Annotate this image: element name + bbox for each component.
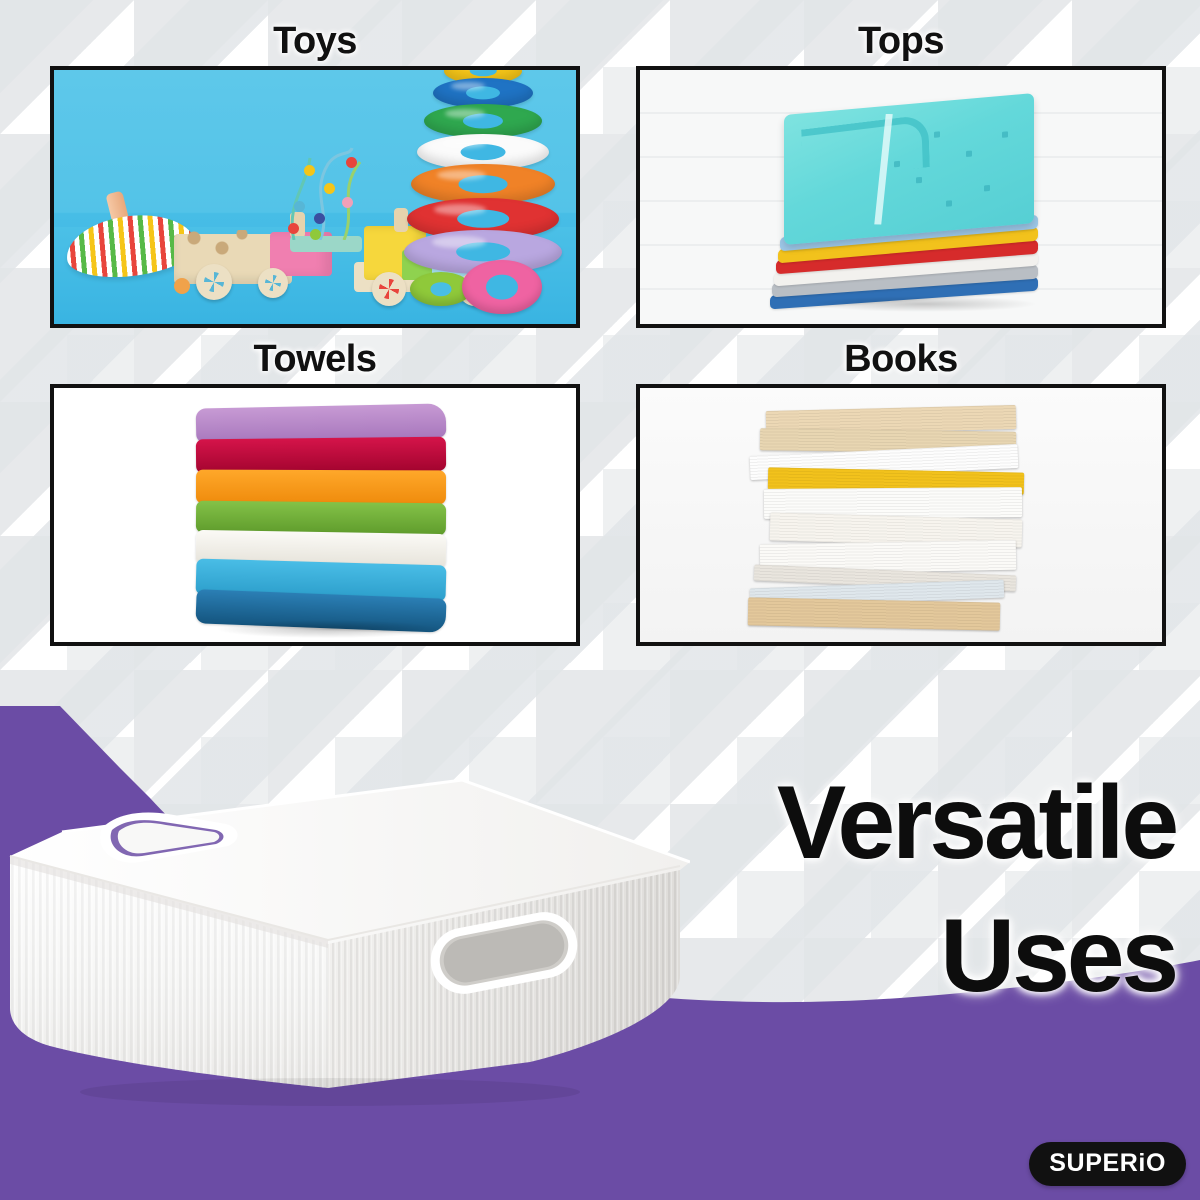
panel-title-toys: Toys (50, 22, 580, 66)
toys-backdrop (54, 70, 576, 324)
book-tan-bottom (748, 597, 1001, 630)
panel-image-books (636, 384, 1166, 646)
towels-backdrop (54, 388, 576, 642)
train-wheel (372, 272, 406, 306)
category-panel-toys: Toys (50, 22, 580, 328)
stacking-rings-tower (404, 66, 562, 280)
train-cutout-dots (182, 230, 252, 258)
maze-bead (346, 157, 357, 168)
shirt-collar (801, 114, 930, 182)
headline-line-1: Versatile (620, 772, 1176, 875)
train-wheel (196, 264, 232, 300)
folded-shirt-stack (768, 100, 1054, 310)
train-nose-bead (174, 278, 190, 294)
book-stack (750, 408, 1050, 634)
stack-ring-green (424, 104, 542, 138)
panel-image-tops (636, 66, 1166, 328)
train-wheel (258, 268, 288, 298)
maze-bead (304, 165, 315, 176)
folded-shirt-aqua (784, 93, 1034, 245)
towel-stack-shadow (218, 620, 438, 638)
towel-stack (196, 406, 446, 630)
brand-logo-superio: SUPERiO (1029, 1142, 1186, 1186)
panel-image-toys (50, 66, 580, 328)
maze-bead (294, 201, 305, 212)
towel-orange (196, 470, 446, 505)
maze-bead (342, 197, 353, 208)
category-panel-towels: Towels (50, 340, 580, 646)
loose-ring-pink (462, 260, 542, 314)
books-backdrop (640, 388, 1162, 642)
storage-bin-product (0, 770, 690, 1115)
panel-title-books: Books (636, 340, 1166, 384)
shirt-stack-shadow (808, 296, 1038, 312)
panel-title-towels: Towels (50, 340, 580, 384)
panel-image-towels (50, 384, 580, 646)
maze-bead (310, 229, 321, 240)
maze-bead (324, 183, 335, 194)
maze-bead (288, 223, 299, 234)
marketing-image: Toys (0, 0, 1200, 1200)
headline-line-2: Uses (620, 905, 1176, 1008)
headline: Versatile Uses (620, 772, 1176, 1008)
category-panel-tops: Tops (636, 22, 1166, 328)
towel-crimson (196, 437, 446, 474)
panel-title-tops: Tops (636, 22, 1166, 66)
category-panel-books: Books (636, 340, 1166, 646)
tops-backdrop (640, 70, 1162, 324)
maze-bead (314, 213, 325, 224)
category-panel-grid: Toys (0, 0, 1200, 680)
